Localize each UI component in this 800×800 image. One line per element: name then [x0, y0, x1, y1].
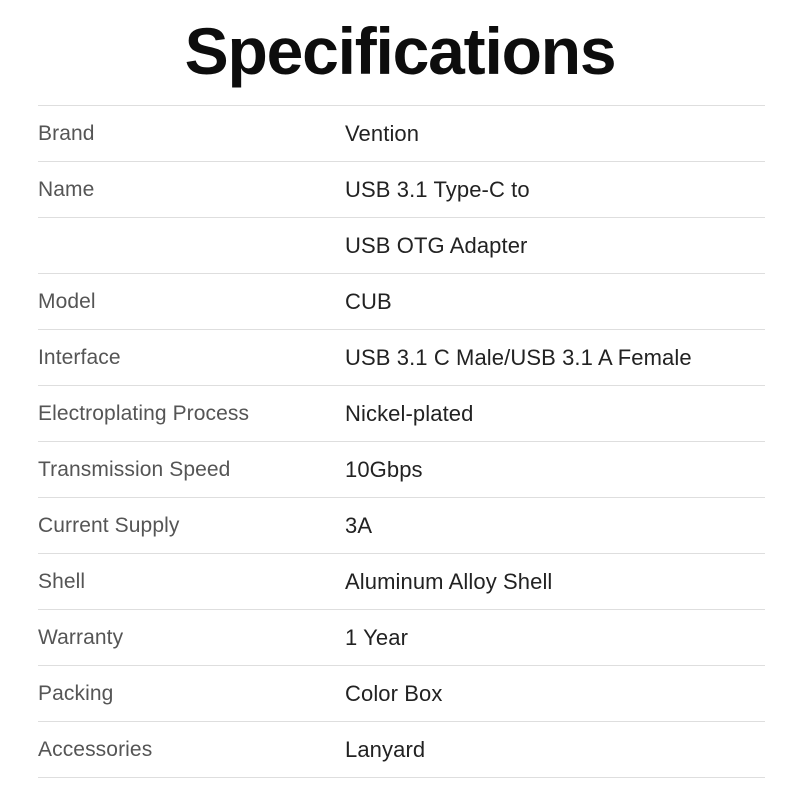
- spec-label: Shell: [38, 554, 345, 610]
- spec-value: 1 Year: [345, 610, 765, 666]
- spec-value: 10Gbps: [345, 442, 765, 498]
- spec-label: Model: [38, 274, 345, 330]
- table-row: Warranty1 Year: [38, 610, 765, 666]
- spec-value: USB OTG Adapter: [345, 218, 765, 274]
- spec-label: Packing: [38, 666, 345, 722]
- specifications-page: Specifications BrandVentionNameUSB 3.1 T…: [0, 0, 800, 800]
- table-row: BrandVention: [38, 106, 765, 162]
- spec-value: USB 3.1 Type-C to: [345, 162, 765, 218]
- table-row: AccessoriesLanyard: [38, 722, 765, 778]
- spec-value: Lanyard: [345, 722, 765, 778]
- table-row: ShellAluminum Alloy Shell: [38, 554, 765, 610]
- spec-label: Name: [38, 162, 345, 218]
- spec-value: Nickel-plated: [345, 386, 765, 442]
- table-row: USB OTG Adapter: [38, 218, 765, 274]
- table-row: Electroplating ProcessNickel-plated: [38, 386, 765, 442]
- table-row: Transmission Speed10Gbps: [38, 442, 765, 498]
- spec-value: Vention: [345, 106, 765, 162]
- spec-label: [38, 218, 345, 274]
- table-row: PackingColor Box: [38, 666, 765, 722]
- table-row: InterfaceUSB 3.1 C Male/USB 3.1 A Female: [38, 330, 765, 386]
- spec-label: Electroplating Process: [38, 386, 345, 442]
- spec-value: CUB: [345, 274, 765, 330]
- spec-label: Accessories: [38, 722, 345, 778]
- specifications-table: BrandVentionNameUSB 3.1 Type-C toUSB OTG…: [38, 105, 765, 778]
- spec-label: Warranty: [38, 610, 345, 666]
- spec-label: Current Supply: [38, 498, 345, 554]
- spec-label: Interface: [38, 330, 345, 386]
- spec-label: Brand: [38, 106, 345, 162]
- page-title: Specifications: [0, 18, 800, 84]
- table-row: NameUSB 3.1 Type-C to: [38, 162, 765, 218]
- table-row: Current Supply3A: [38, 498, 765, 554]
- spec-value: 3A: [345, 498, 765, 554]
- table-row: ModelCUB: [38, 274, 765, 330]
- spec-label: Transmission Speed: [38, 442, 345, 498]
- spec-value: Color Box: [345, 666, 765, 722]
- spec-value: Aluminum Alloy Shell: [345, 554, 765, 610]
- spec-value: USB 3.1 C Male/USB 3.1 A Female: [345, 330, 765, 386]
- specifications-table-body: BrandVentionNameUSB 3.1 Type-C toUSB OTG…: [38, 106, 765, 778]
